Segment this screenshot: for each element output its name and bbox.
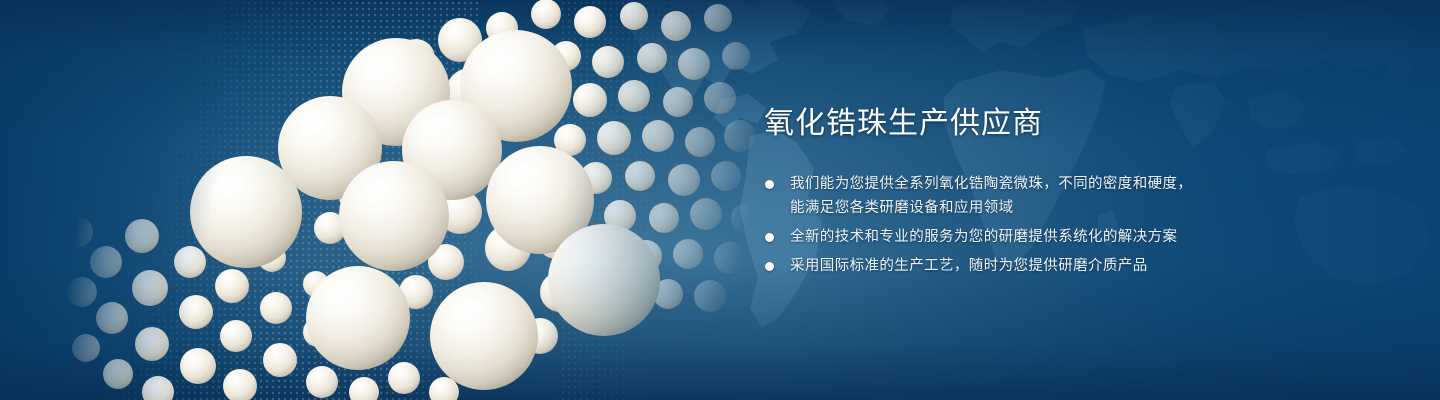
- bullet-text-line: 全新的技术和专业的服务为您的研磨提供系统化的解决方案: [790, 225, 1384, 249]
- bullet-text-line: 能满足您各类研磨设备和应用领域: [790, 196, 1384, 220]
- list-item: 我们能为您提供全系列氧化锆陶瓷微珠，不同的密度和硬度， 能满足您各类研磨设备和应…: [764, 172, 1384, 220]
- bullet-dot-icon: [765, 233, 774, 242]
- feature-bullet-list: 我们能为您提供全系列氧化锆陶瓷微珠，不同的密度和硬度， 能满足您各类研磨设备和应…: [764, 172, 1384, 278]
- bullet-text-line: 采用国际标准的生产工艺，随时为您提供研磨介质产品: [790, 254, 1384, 278]
- bullet-dot-icon: [765, 262, 774, 271]
- list-item: 全新的技术和专业的服务为您的研磨提供系统化的解决方案: [764, 225, 1384, 249]
- hero-banner: 氧化锆珠生产供应商 我们能为您提供全系列氧化锆陶瓷微珠，不同的密度和硬度， 能满…: [0, 0, 1440, 400]
- bullet-dot-icon: [765, 180, 774, 189]
- list-item: 采用国际标准的生产工艺，随时为您提供研磨介质产品: [764, 254, 1384, 278]
- banner-copy-block: 氧化锆珠生产供应商 我们能为您提供全系列氧化锆陶瓷微珠，不同的密度和硬度， 能满…: [764, 104, 1384, 278]
- page-title: 氧化锆珠生产供应商: [764, 104, 1384, 144]
- bullet-text-line: 我们能为您提供全系列氧化锆陶瓷微珠，不同的密度和硬度，: [790, 172, 1384, 196]
